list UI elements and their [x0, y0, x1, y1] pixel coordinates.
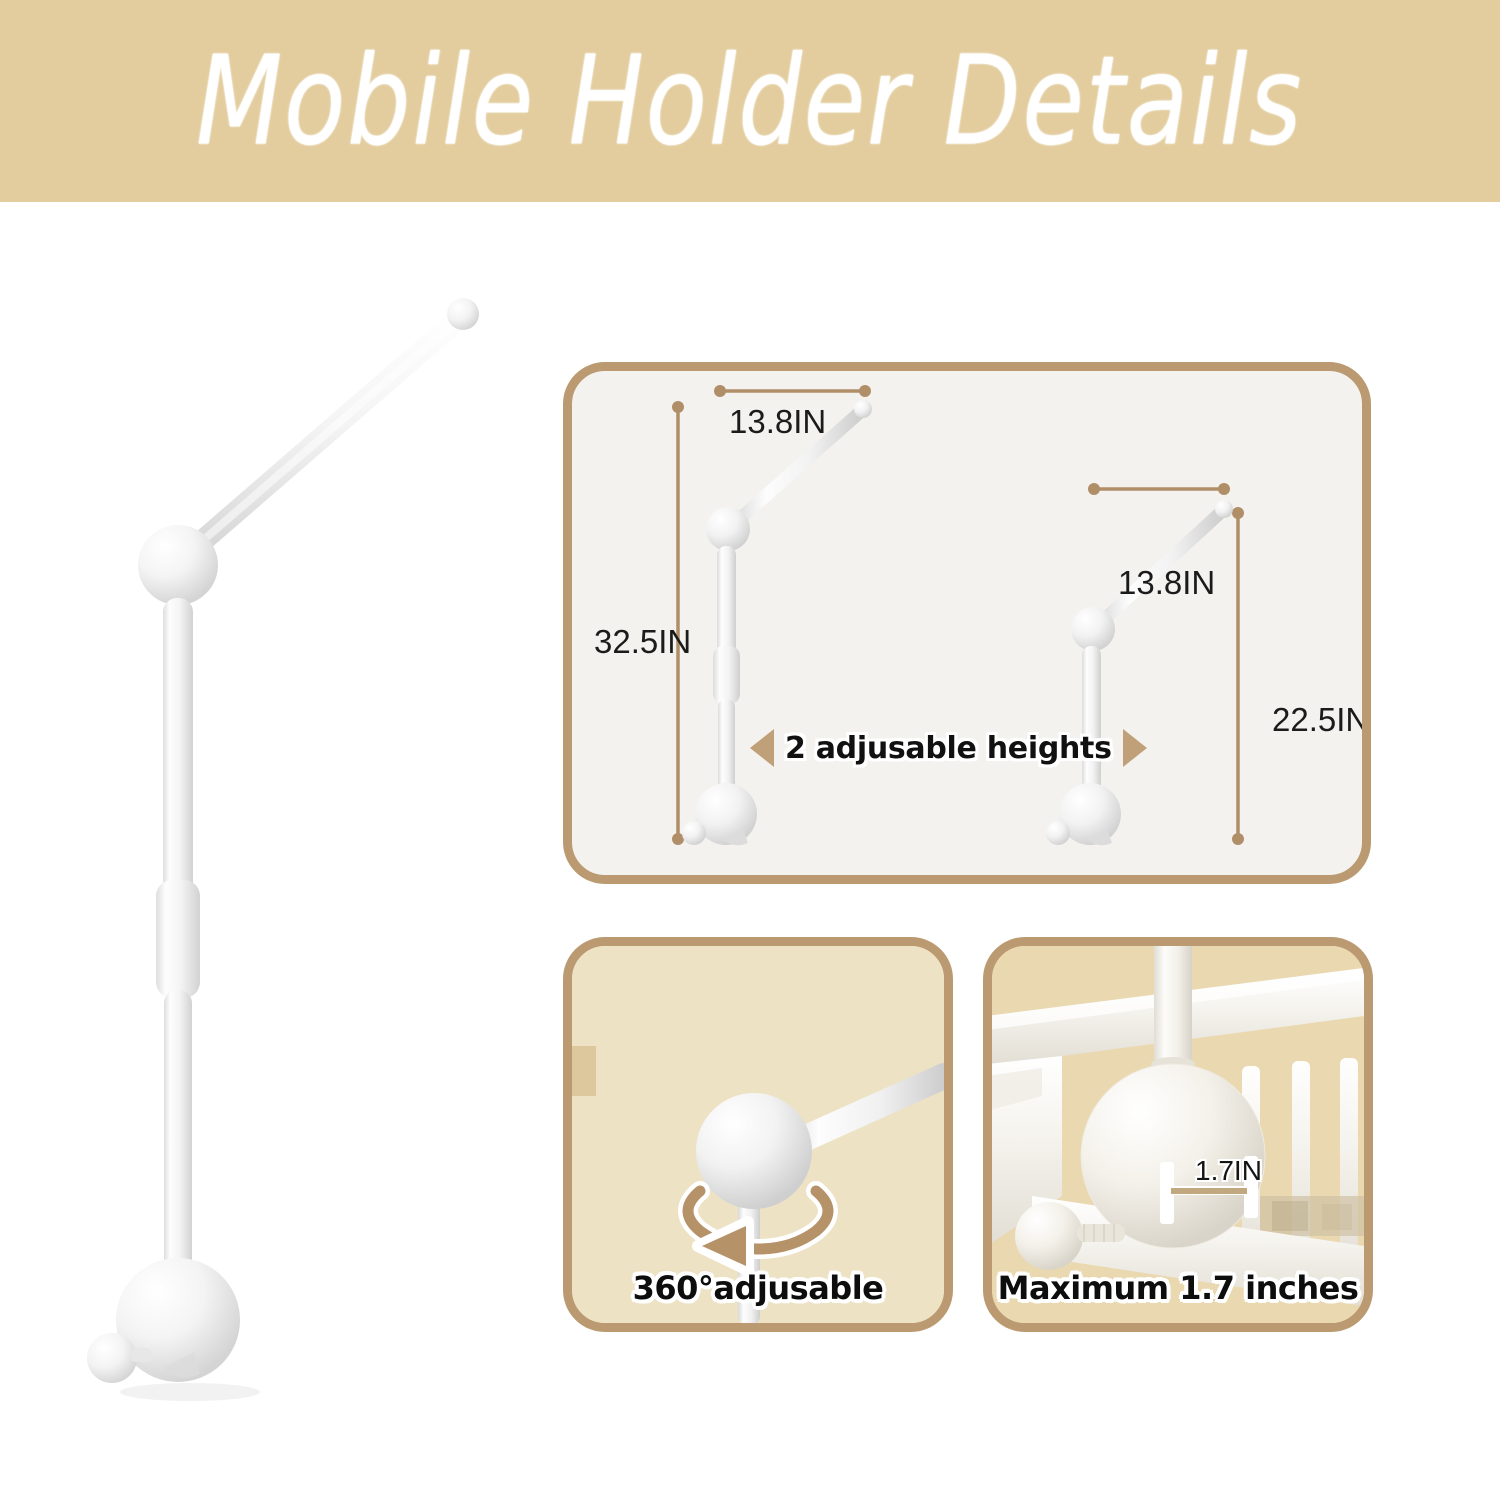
rotation-ball-joint	[696, 1093, 812, 1209]
holder-pole	[1154, 946, 1192, 1066]
clamp-knob-large	[1015, 1202, 1083, 1270]
dim-line-arm-short	[1088, 483, 1230, 495]
infographic-page: Mobile Holder Details	[0, 0, 1500, 1500]
product-short	[1046, 500, 1233, 845]
dim-label-clamp: 1.7IN	[1195, 1155, 1262, 1187]
adjustable-heights-label: 2 adjusable heights	[785, 731, 1112, 766]
ball-joint-sphere	[138, 525, 218, 605]
dim-label-arm-short: 13.8IN	[1118, 564, 1215, 602]
dim-line-height-short	[1232, 507, 1244, 845]
dim-line-arm-tall	[714, 385, 871, 397]
dim-label-height-short: 22.5IN	[1272, 701, 1369, 739]
extension-arm	[192, 298, 479, 550]
dim-label-height-tall: 32.5IN	[594, 623, 691, 661]
connector-sleeve	[156, 880, 200, 998]
rotation-caption: 360°adjusable	[572, 1269, 944, 1307]
hero-product-image	[60, 250, 530, 1430]
header-band: Mobile Holder Details	[0, 0, 1500, 202]
crib-bedding	[1260, 1196, 1364, 1236]
dimensions-panel: 13.8IN 32.5IN 13.8IN 22.5IN 2 adjusable …	[563, 362, 1371, 884]
clamp-knob	[87, 1333, 137, 1383]
arrow-right-icon	[1123, 729, 1147, 767]
clamp-panel: 1.7IN Maximum 1.7 inches	[983, 937, 1373, 1332]
arrow-left-icon	[750, 729, 774, 767]
page-title: Mobile Holder Details	[196, 40, 1303, 163]
wood-trim	[572, 1046, 596, 1096]
product-tall	[682, 400, 872, 845]
clamp-caption: Maximum 1.7 inches	[992, 1269, 1364, 1307]
dim-label-arm-tall: 13.8IN	[729, 403, 826, 441]
pole-upper	[163, 598, 193, 898]
rotation-panel: 360°adjusable	[563, 937, 953, 1332]
pole-lower	[164, 990, 192, 1290]
adjustable-heights-badge: 2 adjusable heights	[750, 729, 1147, 767]
